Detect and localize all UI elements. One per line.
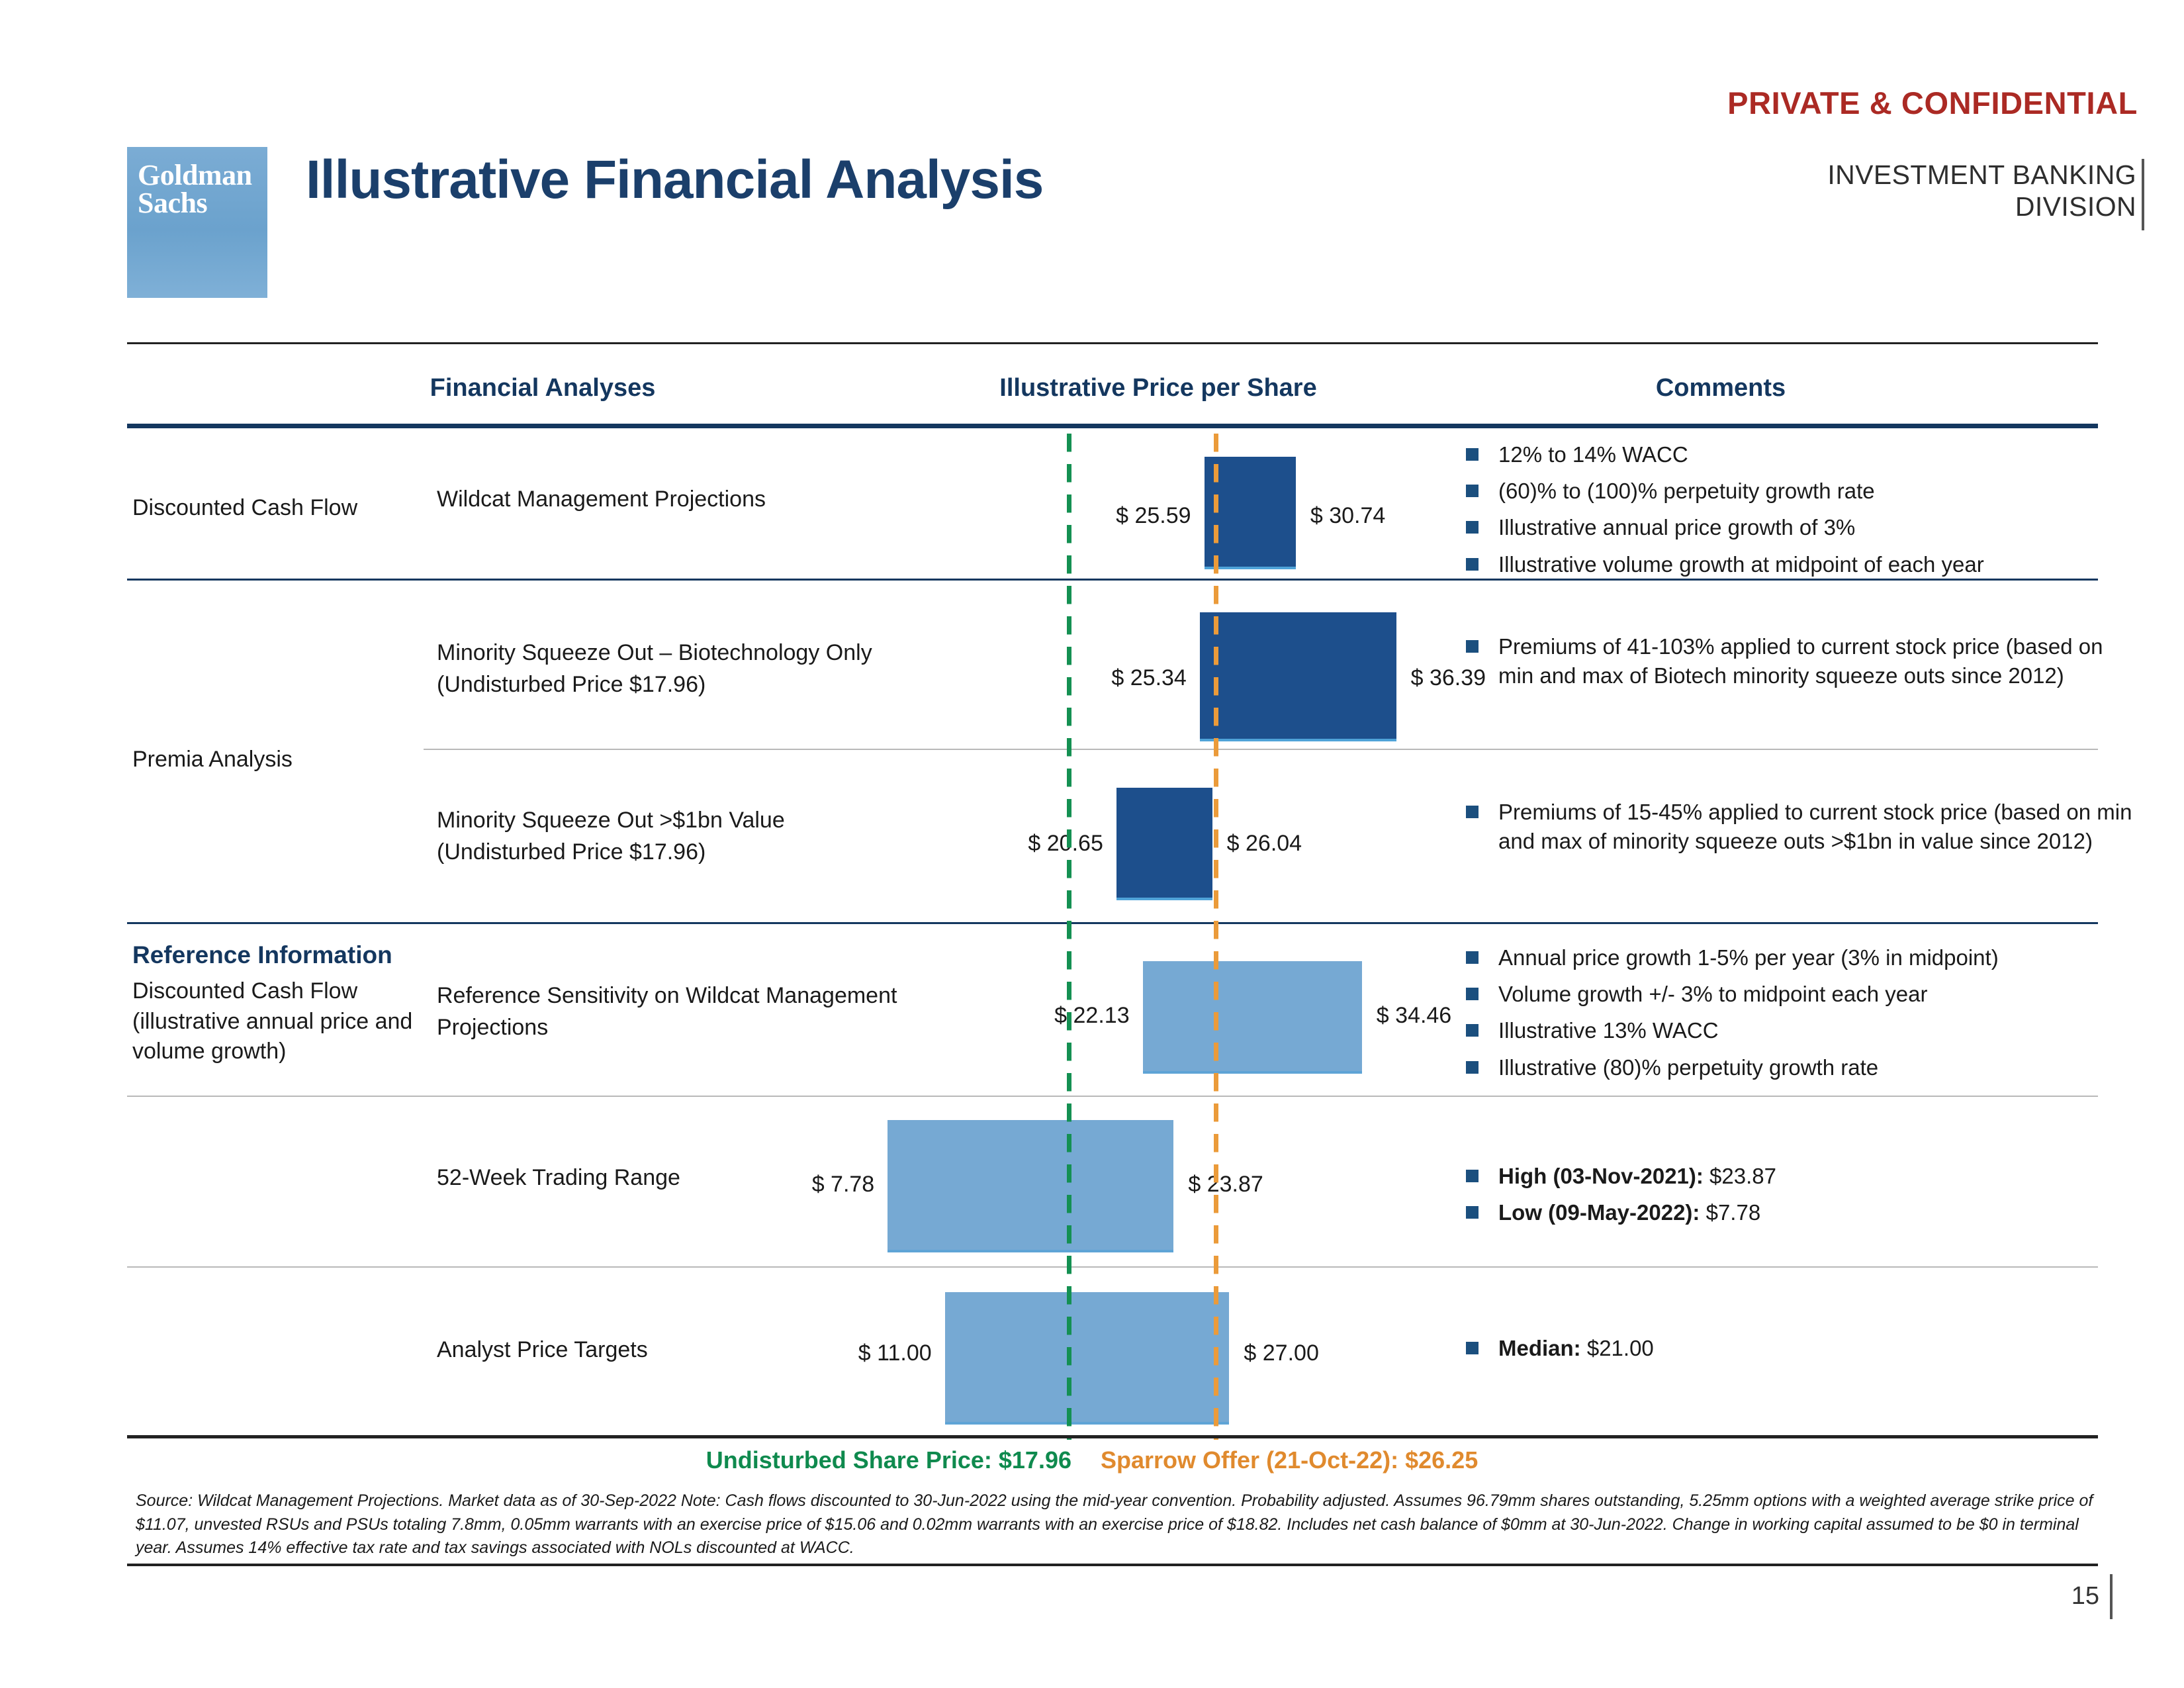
comment-bullet: Premiums of 41-103% applied to current s… (1466, 632, 2134, 690)
table-header-rule (127, 424, 2098, 428)
row-label-1: Minority Squeeze Out – Biotechnology Onl… (437, 637, 913, 701)
price-low-label-4: $ 7.78 (709, 1172, 874, 1197)
price-range-bar-4 (887, 1120, 1173, 1252)
division-line-2: DIVISION (1827, 191, 2136, 222)
category-premia-analysis: Premia Analysis (132, 745, 424, 775)
bullet-square-icon (1466, 806, 1479, 818)
comment-bullet: (60)% to (100)% perpetuity growth rate (1466, 477, 2134, 506)
comment-text: 12% to 14% WACC (1498, 440, 1688, 469)
comment-bullet: Median: $21.00 (1466, 1334, 2134, 1363)
comment-text: (60)% to (100)% perpetuity growth rate (1498, 477, 1875, 506)
bullet-square-icon (1466, 640, 1479, 653)
table-top-rule (127, 342, 2098, 344)
bullet-square-icon (1466, 988, 1479, 1000)
comment-bullet: High (03-Nov-2021): $23.87 (1466, 1162, 2134, 1191)
row-label-0: Wildcat Management Projections (437, 483, 913, 515)
footer-rule (127, 1564, 2098, 1566)
comment-bullet: Volume growth +/- 3% to midpoint each ye… (1466, 980, 2134, 1009)
comment-text: Illustrative (80)% perpetuity growth rat… (1498, 1053, 1878, 1082)
comment-bullet: Illustrative (80)% perpetuity growth rat… (1466, 1053, 2134, 1082)
comment-bullet: Low (09-May-2022): $7.78 (1466, 1198, 2134, 1227)
category-reference-subtext: Discounted Cash Flow (illustrative annua… (132, 976, 424, 1067)
comment-bullet: Illustrative volume growth at midpoint o… (1466, 550, 2134, 579)
bullet-square-icon (1466, 1170, 1479, 1182)
goldman-sachs-logo: Goldman Sachs (127, 147, 267, 298)
comment-bullet: Illustrative annual price growth of 3% (1466, 513, 2134, 542)
logo-line-1: Goldman (138, 162, 252, 189)
division-label: INVESTMENT BANKING DIVISION (1827, 159, 2136, 223)
comment-text: Premiums of 15-45% applied to current st… (1498, 798, 2134, 856)
price-low-label-1: $ 25.34 (1021, 665, 1187, 691)
comments-row-3: Annual price growth 1-5% per year (3% in… (1466, 943, 2134, 1082)
price-low-label-3: $ 22.13 (964, 1003, 1130, 1029)
bullet-square-icon (1466, 1206, 1479, 1219)
logo-text: Goldman Sachs (138, 162, 252, 217)
comments-row-4: High (03-Nov-2021): $23.87Low (09-May-20… (1466, 1162, 2134, 1227)
price-low-label-2: $ 20.65 (938, 831, 1103, 857)
division-line-1: INVESTMENT BANKING (1827, 159, 2136, 191)
bullet-square-icon (1466, 448, 1479, 461)
row-label-2: Minority Squeeze Out >$1bn Value (Undist… (437, 804, 913, 868)
comment-text: Premiums of 41-103% applied to current s… (1498, 632, 2134, 690)
price-high-label-0: $ 30.74 (1310, 503, 1385, 529)
category-discounted-cash-flow: Discounted Cash Flow (132, 493, 424, 524)
column-header-financial-analyses: Financial Analyses (371, 374, 715, 402)
comment-bullet: Premiums of 15-45% applied to current st… (1466, 798, 2134, 856)
comment-text: Low (09-May-2022): $7.78 (1498, 1198, 1760, 1227)
row-label-3: Reference Sensitivity on Wildcat Managem… (437, 980, 913, 1044)
row-separator-4 (127, 1096, 2098, 1097)
chart-row-4 (847, 1120, 1469, 1252)
row-separator-5 (127, 1266, 2098, 1268)
comment-text: Illustrative annual price growth of 3% (1498, 513, 1855, 542)
category-reference-information: Reference Information (132, 939, 430, 972)
comments-row-2: Premiums of 15-45% applied to current st… (1466, 798, 2134, 856)
comment-bullet: Annual price growth 1-5% per year (3% in… (1466, 943, 2134, 972)
comments-row-5: Median: $21.00 (1466, 1334, 2134, 1363)
price-range-bar-3 (1143, 961, 1362, 1074)
comment-bullet: Illustrative 13% WACC (1466, 1016, 2134, 1045)
source-footnote: Source: Wildcat Management Projections. … (136, 1489, 2095, 1560)
price-high-label-2: $ 26.04 (1227, 831, 1302, 857)
bullet-square-icon (1466, 558, 1479, 571)
page-number-rule (2110, 1574, 2113, 1619)
comment-text: Annual price growth 1-5% per year (3% in… (1498, 943, 1999, 972)
slide-root: Goldman Sachs Illustrative Financial Ana… (0, 0, 2184, 1688)
price-high-label-5: $ 27.00 (1244, 1340, 1318, 1366)
price-range-bar-5 (945, 1292, 1230, 1425)
column-header-illustrative-price: Illustrative Price per Share (920, 374, 1396, 402)
bullet-square-icon (1466, 521, 1479, 534)
legend-undisturbed-price: Undisturbed Share Price: $17.96 (706, 1446, 1071, 1474)
chart-legend: Undisturbed Share Price: $17.96 Sparrow … (0, 1446, 2184, 1474)
price-low-label-5: $ 11.00 (766, 1340, 932, 1366)
column-header-comments: Comments (1535, 374, 1906, 402)
sparrow-offer-reference-line (1214, 434, 1218, 1440)
comments-row-0: 12% to 14% WACC(60)% to (100)% perpetuit… (1466, 440, 2134, 579)
comments-row-1: Premiums of 41-103% applied to current s… (1466, 632, 2134, 690)
undisturbed-price-reference-line (1067, 434, 1071, 1440)
page-number: 15 (2071, 1582, 2099, 1611)
price-high-label-4: $ 23.87 (1188, 1172, 1263, 1197)
confidential-banner: PRIVATE & CONFIDENTIAL (1727, 85, 2138, 121)
bullet-square-icon (1466, 951, 1479, 964)
price-range-bar-2 (1116, 788, 1212, 900)
page-title: Illustrative Financial Analysis (306, 149, 1043, 211)
comment-text: High (03-Nov-2021): $23.87 (1498, 1162, 1776, 1191)
bullet-square-icon (1466, 1061, 1479, 1074)
bullet-square-icon (1466, 485, 1479, 497)
chart-row-5 (847, 1292, 1469, 1425)
row-separator-2 (424, 749, 2098, 750)
bullet-square-icon (1466, 1024, 1479, 1037)
comment-text: Median: $21.00 (1498, 1334, 1654, 1363)
comment-bullet: 12% to 14% WACC (1466, 440, 2134, 469)
legend-sparrow-offer: Sparrow Offer (21-Oct-22): $26.25 (1101, 1446, 1478, 1474)
price-range-bar-1 (1200, 612, 1396, 741)
table-bottom-rule (127, 1435, 2098, 1438)
comment-text: Volume growth +/- 3% to midpoint each ye… (1498, 980, 1927, 1009)
division-rule (2142, 159, 2144, 230)
price-low-label-0: $ 25.59 (1026, 503, 1191, 529)
bullet-square-icon (1466, 1342, 1479, 1354)
logo-line-2: Sachs (138, 189, 252, 217)
comment-text: Illustrative 13% WACC (1498, 1016, 1719, 1045)
comment-text: Illustrative volume growth at midpoint o… (1498, 550, 1984, 579)
row-separator-3 (127, 922, 2098, 924)
price-high-label-3: $ 34.46 (1377, 1003, 1451, 1029)
